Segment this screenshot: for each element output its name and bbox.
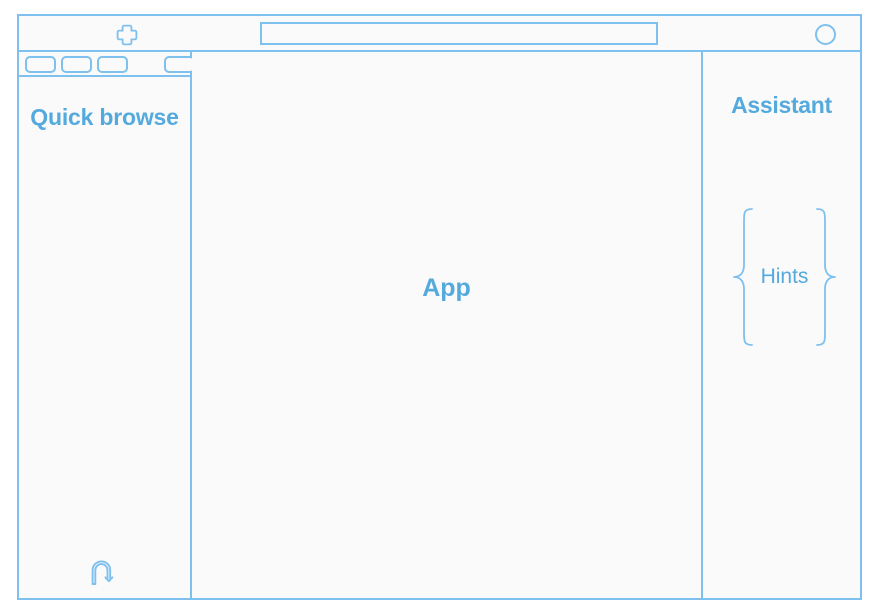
tab-strip	[19, 52, 190, 77]
sidebar-tab-2[interactable]	[61, 56, 92, 73]
right-brace-icon	[812, 207, 838, 347]
wireframe-window: Quick browse App Assistant	[17, 14, 862, 600]
sidebar-tab-3[interactable]	[97, 56, 128, 73]
quick-browse-sidebar: Quick browse	[19, 52, 192, 598]
assistant-title: Assistant	[703, 92, 860, 119]
hints-block: Hints	[715, 207, 854, 347]
assistant-panel: Assistant Hints	[701, 52, 860, 598]
window-body: Quick browse App Assistant	[19, 52, 860, 598]
app-label: App	[192, 274, 701, 303]
circle-avatar-icon[interactable]	[815, 24, 836, 45]
sidebar-new-tab-button[interactable]	[164, 56, 195, 73]
left-brace-icon	[731, 207, 757, 347]
sidebar-title: Quick browse	[19, 103, 190, 132]
undo-uturn-arrow-icon[interactable]	[91, 560, 119, 586]
sidebar-content: Quick browse	[19, 77, 190, 598]
plus-icon[interactable]	[116, 24, 138, 46]
app-main-panel: App	[192, 52, 701, 598]
search-input[interactable]	[260, 22, 658, 45]
top-bar	[19, 16, 860, 52]
hints-label: Hints	[757, 265, 813, 289]
sidebar-tab-1[interactable]	[25, 56, 56, 73]
